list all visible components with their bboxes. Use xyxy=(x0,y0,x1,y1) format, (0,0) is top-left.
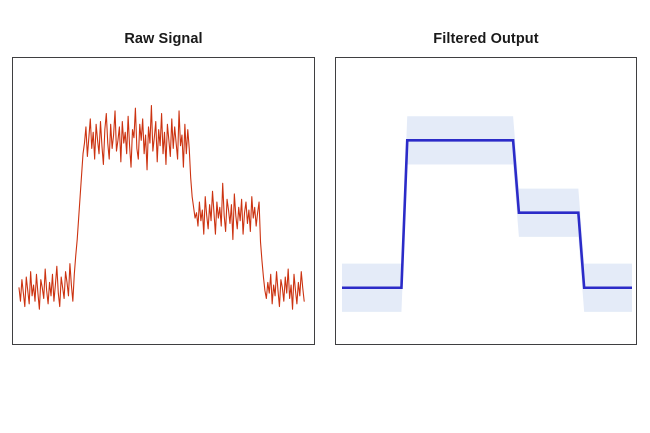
raw-signal-line xyxy=(19,106,304,310)
panel-title-raw-signal: Raw Signal xyxy=(12,30,315,48)
panel-filtered-output: Filtered Output xyxy=(335,30,637,345)
panel-raw-signal: Raw Signal xyxy=(12,30,315,345)
uncertainty-band xyxy=(342,116,632,312)
axes-filtered-output xyxy=(335,57,637,345)
panel-title-filtered-output: Filtered Output xyxy=(335,30,637,48)
filtered-output-plot xyxy=(336,58,637,345)
axes-raw-signal xyxy=(12,57,315,345)
raw-signal-plot xyxy=(13,58,315,345)
figure-canvas: Raw Signal Filtered Output xyxy=(0,0,650,433)
